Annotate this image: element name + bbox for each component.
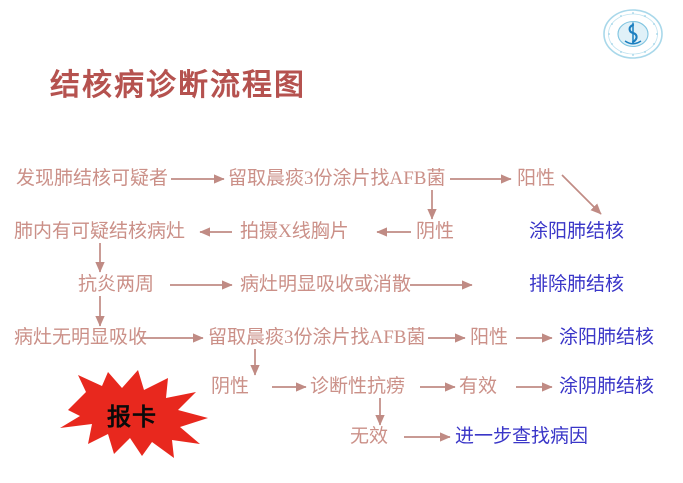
node-positive-1[interactable]: 阳性 <box>517 169 555 188</box>
institution-seal-logo <box>600 8 666 60</box>
node-ineffective[interactable]: 无效 <box>350 427 388 446</box>
node-diagnostic-anti-tb-therapy[interactable]: 诊断性抗痨 <box>310 377 405 396</box>
node-lesion-absorbed[interactable]: 病灶明显吸收或消散 <box>240 275 411 294</box>
slide-canvas: 结核病诊断流程图 <box>0 0 683 483</box>
node-lesion-not-absorbed[interactable]: 病灶无明显吸收 <box>14 328 147 347</box>
page-title: 结核病诊断流程图 <box>50 60 306 104</box>
node-sputum-afb-smear-2[interactable]: 留取晨痰3份涂片找AFB菌 <box>208 328 425 347</box>
node-chest-xray[interactable]: 拍摄X线胸片 <box>240 222 349 241</box>
node-smear-positive-tb-1[interactable]: 涂阳肺结核 <box>529 222 624 241</box>
node-positive-2[interactable]: 阳性 <box>470 328 508 347</box>
node-suspicious-lung-lesion[interactable]: 肺内有可疑结核病灶 <box>14 222 185 241</box>
report-card-starburst[interactable] <box>56 370 208 458</box>
node-anti-inflammatory-two-weeks[interactable]: 抗炎两周 <box>78 275 154 294</box>
node-smear-positive-tb-2[interactable]: 涂阳肺结核 <box>559 328 654 347</box>
arrow-positive-to-smearpos <box>562 175 601 214</box>
node-sputum-afb-smear-1[interactable]: 留取晨痰3份涂片找AFB菌 <box>228 169 445 188</box>
node-negative-2[interactable]: 阴性 <box>211 377 249 396</box>
node-exclude-pulmonary-tb[interactable]: 排除肺结核 <box>529 275 624 294</box>
node-smear-negative-tb[interactable]: 涂阴肺结核 <box>559 377 654 396</box>
node-effective[interactable]: 有效 <box>459 377 497 396</box>
node-further-investigate-cause[interactable]: 进一步查找病因 <box>455 427 588 446</box>
node-negative-1[interactable]: 阴性 <box>416 222 454 241</box>
node-suspect-pulmonary-tb[interactable]: 发现肺结核可疑者 <box>16 169 168 188</box>
